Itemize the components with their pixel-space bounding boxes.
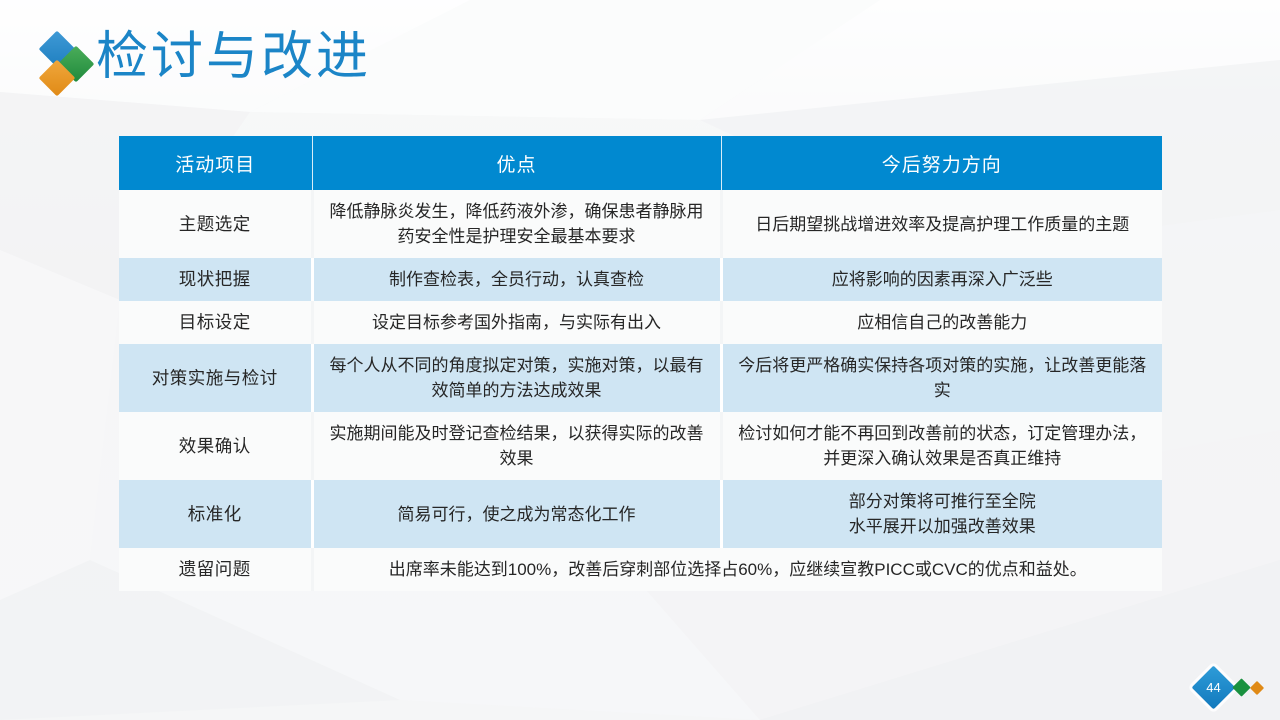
cell-merits: 降低静脉炎发生，降低药液外渗，确保患者静脉用药安全性是护理安全最基本要求 xyxy=(312,190,721,258)
slide-canvas: 检讨与改进 活动项目 优点 今后努力方向 主题选定降低静脉炎发生，降低药液外渗，… xyxy=(0,0,1280,720)
cell-future-efforts: 日后期望挑战增进效率及提高护理工作质量的主题 xyxy=(721,190,1162,258)
cell-activity-item: 现状把握 xyxy=(119,258,312,301)
review-and-improvement-table: 活动项目 优点 今后努力方向 主题选定降低静脉炎发生，降低药液外渗，确保患者静脉… xyxy=(119,136,1162,591)
table-row: 效果确认实施期间能及时登记查检结果，以获得实际的改善效果检讨如何才能不再回到改善… xyxy=(119,412,1162,480)
cell-activity-item: 遗留问题 xyxy=(119,548,312,591)
cell-merits: 制作查检表，全员行动，认真查检 xyxy=(312,258,721,301)
table-row: 目标设定设定目标参考国外指南，与实际有出入应相信自己的改善能力 xyxy=(119,301,1162,344)
page-number-marker: 44 xyxy=(1194,668,1266,708)
table-row: 主题选定降低静脉炎发生，降低药液外渗，确保患者静脉用药安全性是护理安全最基本要求… xyxy=(119,190,1162,258)
cell-merits: 简易可行，使之成为常态化工作 xyxy=(312,480,721,548)
diamond-cluster-logo-icon xyxy=(44,36,100,92)
column-header-merits: 优点 xyxy=(312,136,721,190)
table-row: 标准化简易可行，使之成为常态化工作部分对策将可推行至全院水平展开以加强改善效果 xyxy=(119,480,1162,548)
cell-merits: 设定目标参考国外指南，与实际有出入 xyxy=(312,301,721,344)
column-header-future-efforts: 今后努力方向 xyxy=(721,136,1162,190)
column-header-activity-item: 活动项目 xyxy=(119,136,312,190)
slide-header: 检讨与改进 xyxy=(0,0,1280,112)
table-header-row: 活动项目 优点 今后努力方向 xyxy=(119,136,1162,190)
page-marker-diamond-orange-icon xyxy=(1250,681,1264,695)
cell-future-efforts: 检讨如何才能不再回到改善前的状态，订定管理办法，并更深入确认效果是否真正维持 xyxy=(721,412,1162,480)
cell-activity-item: 目标设定 xyxy=(119,301,312,344)
page-title: 检讨与改进 xyxy=(96,22,371,92)
table-body: 主题选定降低静脉炎发生，降低药液外渗，确保患者静脉用药安全性是护理安全最基本要求… xyxy=(119,190,1162,591)
cell-activity-item: 主题选定 xyxy=(119,190,312,258)
cell-future-efforts: 应将影响的因素再深入广泛些 xyxy=(721,258,1162,301)
cell-merits: 实施期间能及时登记查检结果，以获得实际的改善效果 xyxy=(312,412,721,480)
cell-activity-item: 标准化 xyxy=(119,480,312,548)
cell-future-efforts: 应相信自己的改善能力 xyxy=(721,301,1162,344)
cell-activity-item: 对策实施与检讨 xyxy=(119,344,312,412)
cell-future-efforts: 部分对策将可推行至全院水平展开以加强改善效果 xyxy=(721,480,1162,548)
cell-merits: 每个人从不同的角度拟定对策，实施对策，以最有效简单的方法达成效果 xyxy=(312,344,721,412)
table-row: 现状把握制作查检表，全员行动，认真查检应将影响的因素再深入广泛些 xyxy=(119,258,1162,301)
table-row: 对策实施与检讨每个人从不同的角度拟定对策，实施对策，以最有效简单的方法达成效果今… xyxy=(119,344,1162,412)
cell-activity-item: 效果确认 xyxy=(119,412,312,480)
table-row: 遗留问题出席率未能达到100%，改善后穿刺部位选择占60%，应继续宣教PICC或… xyxy=(119,548,1162,591)
page-number-label: 44 xyxy=(1198,672,1229,703)
cell-merits: 出席率未能达到100%，改善后穿刺部位选择占60%，应继续宣教PICC或CVC的… xyxy=(312,548,1162,591)
page-marker-diamond-green-icon xyxy=(1232,678,1250,696)
cell-future-efforts: 今后将更严格确实保持各项对策的实施，让改善更能落实 xyxy=(721,344,1162,412)
